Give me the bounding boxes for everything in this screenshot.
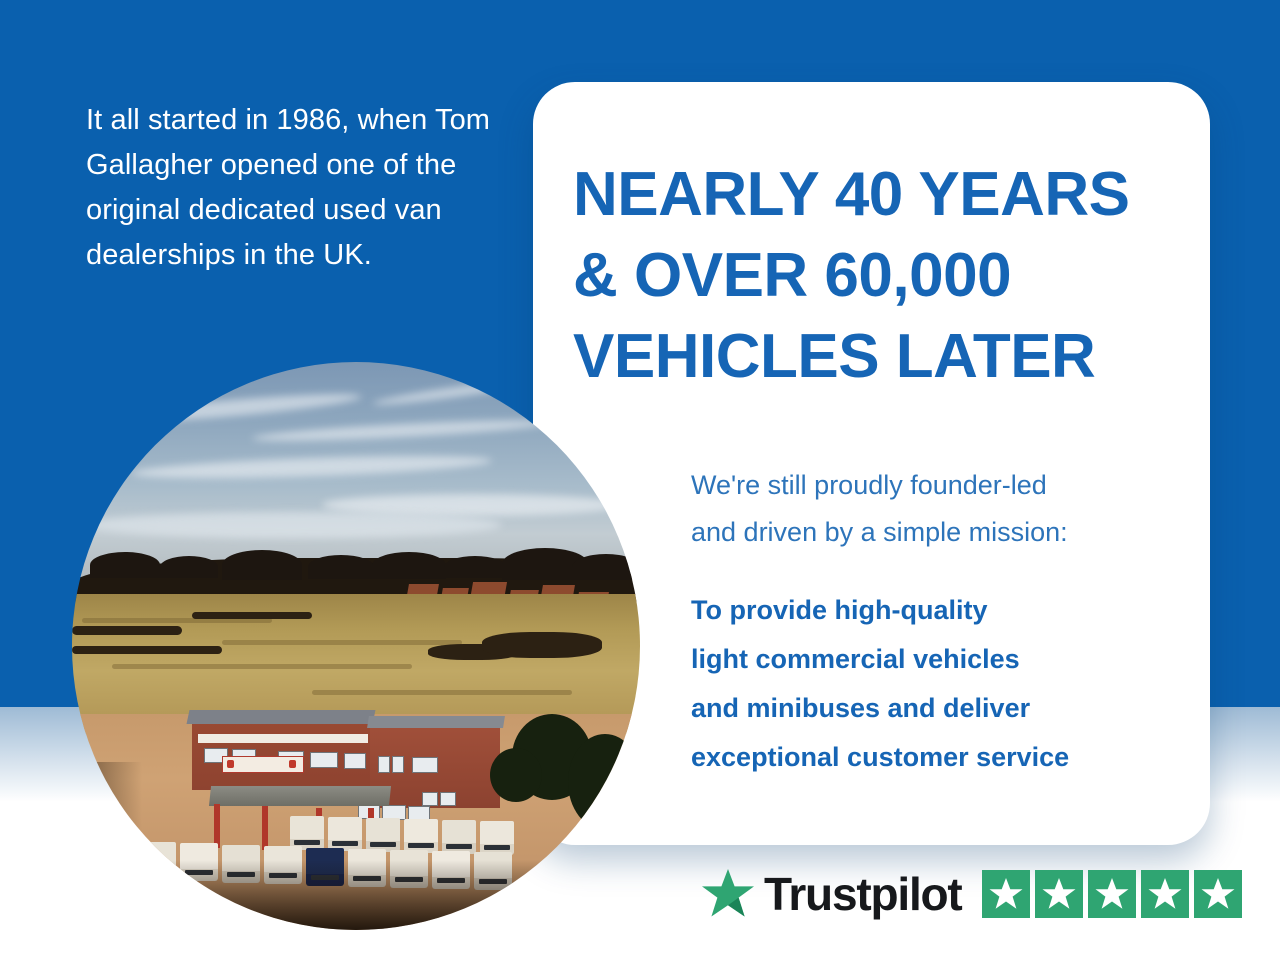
- trustpilot-star-icon: [700, 867, 756, 921]
- trustpilot-star-4: [1141, 870, 1189, 918]
- subhead: We're still proudly founder-led and driv…: [691, 462, 1191, 556]
- infographic-canvas: It all started in 1986, when Tom Gallagh…: [0, 0, 1280, 960]
- mission-statement: To provide high-quality light commercial…: [691, 586, 1191, 782]
- photo-van: [328, 817, 362, 851]
- photo-van: [442, 820, 476, 854]
- intro-paragraph: It all started in 1986, when Tom Gallagh…: [86, 98, 516, 278]
- mission-line-3: and minibuses and deliver: [691, 684, 1191, 733]
- trustpilot-star-3: [1088, 870, 1136, 918]
- subhead-line-1: We're still proudly founder-led: [691, 462, 1191, 509]
- headline-line-3: VEHICLES LATER: [573, 316, 1193, 397]
- headline-line-1: NEARLY 40 YEARS: [573, 154, 1193, 235]
- headline: NEARLY 40 YEARS & OVER 60,000 VEHICLES L…: [573, 154, 1193, 397]
- subhead-line-2: and driven by a simple mission:: [691, 509, 1191, 556]
- mission-line-2: light commercial vehicles: [691, 635, 1191, 684]
- photo-van: [404, 819, 438, 853]
- trustpilot-logo[interactable]: Trustpilot: [700, 867, 962, 921]
- star-icon: [1147, 877, 1183, 911]
- mission-line-4: exceptional customer service: [691, 733, 1191, 782]
- trustpilot-star-1: [982, 870, 1030, 918]
- photo-sky: [72, 362, 640, 577]
- trustpilot-wordmark: Trustpilot: [764, 871, 962, 917]
- star-icon: [1200, 877, 1236, 911]
- photo-building-sign: [222, 756, 304, 773]
- photo-van: [290, 816, 324, 850]
- trustpilot-star-5: [1194, 870, 1242, 918]
- headline-line-2: & OVER 60,000: [573, 235, 1193, 316]
- star-icon: [1041, 877, 1077, 911]
- star-icon: [988, 877, 1024, 911]
- photo-canopy: [209, 786, 391, 806]
- photo-van: [366, 818, 400, 852]
- trustpilot-stars[interactable]: [982, 870, 1242, 918]
- star-icon: [1094, 877, 1130, 911]
- mission-line-1: To provide high-quality: [691, 586, 1191, 635]
- photo-van: [480, 821, 514, 855]
- dealership-photo: [72, 362, 640, 930]
- dealership-photo-image: [72, 362, 640, 930]
- trustpilot-star-2: [1035, 870, 1083, 918]
- trustpilot-rating[interactable]: Trustpilot: [700, 862, 1242, 926]
